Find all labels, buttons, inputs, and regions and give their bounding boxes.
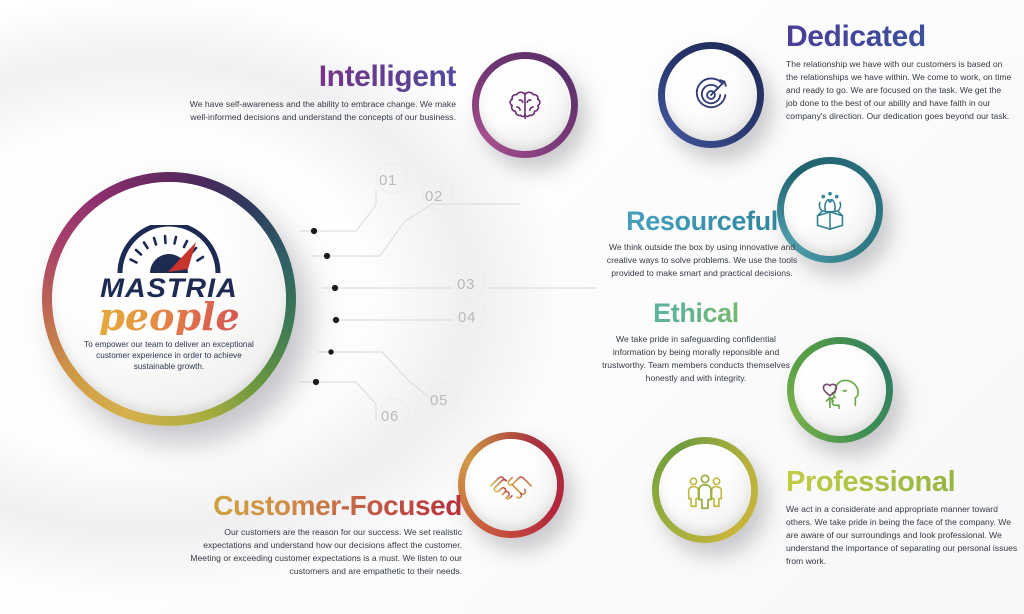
connector-dot (324, 253, 330, 259)
section-resourceful: Resourceful We think outside the box by … (596, 208, 808, 280)
section-body-dedicated: The relationship we have with our custom… (786, 58, 1014, 123)
connector-dot (311, 228, 317, 234)
three-people-icon (682, 467, 728, 513)
section-body-customer-focused: Our customers are the reason for our suc… (182, 526, 462, 578)
head-heart-icon (817, 367, 863, 413)
step-number-06: 06 (381, 408, 399, 425)
section-intelligent: Intelligent We have self-awareness and t… (178, 62, 456, 124)
badge-dedicated[interactable] (658, 42, 764, 148)
logo-tagline: To empower our team to deliver an except… (77, 339, 261, 373)
logo-script-word: people (71, 300, 267, 334)
brain-icon (502, 82, 548, 128)
hero-content: MASTRIA people To empower our team to de… (71, 225, 267, 372)
section-dedicated: Dedicated The relationship we have with … (786, 22, 1014, 123)
section-title-customer-focused: Customer-Focused (182, 492, 462, 520)
section-body-professional: We act in a considerate and appropriate … (786, 503, 1018, 568)
connector-dot (333, 317, 339, 323)
open-box-idea-icon (807, 187, 853, 233)
hero-logo-badge: MASTRIA people To empower our team to de… (42, 172, 296, 426)
section-title-intelligent: Intelligent (178, 62, 456, 92)
section-title-ethical: Ethical (596, 300, 796, 327)
section-title-professional: Professional (786, 468, 1018, 497)
section-customer-focused: Customer-Focused Our customers are the r… (182, 492, 462, 578)
section-title-dedicated: Dedicated (786, 22, 1014, 52)
connector-dot (313, 379, 319, 385)
step-number-04: 04 (458, 309, 476, 326)
section-professional: Professional We act in a considerate and… (786, 468, 1018, 568)
section-body-resourceful: We think outside the box by using innova… (596, 241, 808, 280)
handshake-icon (486, 460, 536, 510)
badge-intelligent[interactable] (472, 52, 578, 158)
speedometer-icon (110, 225, 228, 277)
badge-ethical[interactable] (787, 337, 893, 443)
logo-wordmark: MASTRIA (65, 275, 273, 302)
badge-professional[interactable] (652, 437, 758, 543)
section-ethical: Ethical We take pride in safeguarding co… (596, 300, 796, 385)
target-arrow-icon (688, 72, 734, 118)
connector-dot (328, 349, 333, 354)
section-body-ethical: We take pride in safeguarding confidenti… (596, 333, 796, 385)
badge-customer-focused[interactable] (458, 432, 564, 538)
step-number-05: 05 (430, 392, 448, 409)
step-number-03: 03 (457, 276, 475, 293)
infographic-canvas: 01 02 03 04 05 06 (0, 0, 1024, 614)
step-number-02: 02 (425, 188, 443, 205)
section-body-intelligent: We have self-awareness and the ability t… (178, 98, 456, 124)
connector-dot (332, 285, 338, 291)
step-number-01: 01 (379, 172, 397, 189)
section-title-resourceful: Resourceful (596, 208, 808, 235)
